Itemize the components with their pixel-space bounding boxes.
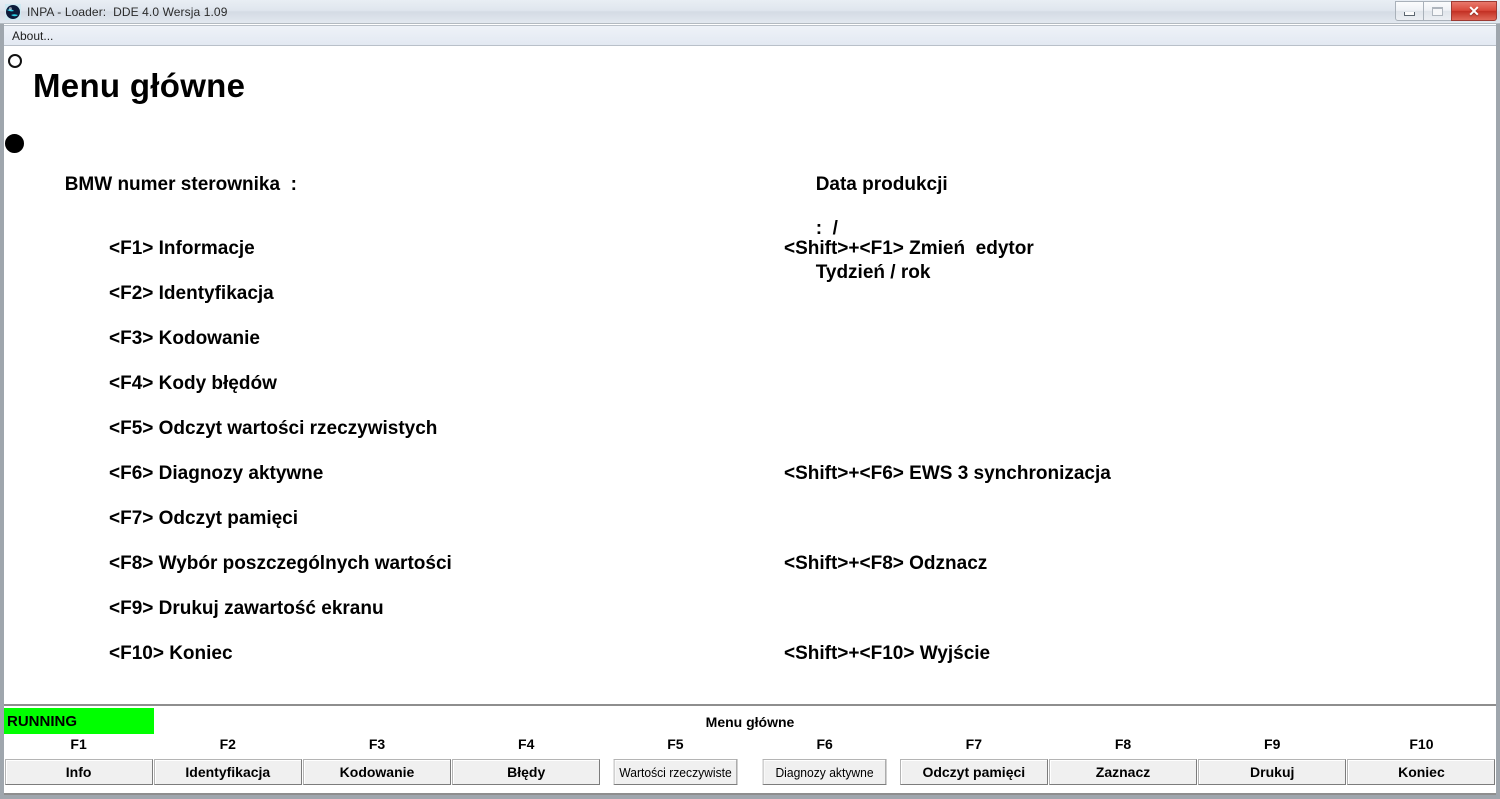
function-key-name: F6: [816, 736, 832, 752]
menu-row: <F4> Kody błędów: [4, 371, 1496, 416]
function-key-cell: F4Błędy: [452, 736, 601, 794]
shift-function-key-entry[interactable]: <Shift>+<F10> Wyjście: [784, 641, 990, 667]
function-key-entry[interactable]: <F10> Koniec: [109, 641, 233, 667]
function-key-entry[interactable]: <F9> Drukuj zawartość ekranu: [109, 596, 384, 622]
function-button-f8[interactable]: Zaznacz: [1049, 759, 1197, 785]
function-key-name: F8: [1115, 736, 1131, 752]
bottom-panel: RUNNING Menu główne F1InfoF2Identyfikacj…: [4, 704, 1496, 795]
function-key-entry[interactable]: <F2> Identyfikacja: [109, 281, 274, 307]
content-area: Menu główne BMW numer sterownika : Data …: [4, 46, 1496, 704]
menu-row: <F9> Drukuj zawartość ekranu: [4, 596, 1496, 641]
function-key-name: F2: [220, 736, 236, 752]
function-key-cell: F1Info: [4, 736, 153, 794]
window-controls: ✕: [1396, 1, 1497, 22]
function-button-f6[interactable]: Diagnozy aktywne: [763, 759, 887, 785]
function-key-name: F10: [1409, 736, 1433, 752]
shift-function-key-entry[interactable]: <Shift>+<F8> Odznacz: [784, 551, 987, 577]
function-key-cell: F6Diagnozy aktywne: [750, 736, 899, 794]
function-button-f7[interactable]: Odczyt pamięci: [900, 759, 1048, 785]
function-key-cell: F8Zaznacz: [1048, 736, 1197, 794]
close-icon: ✕: [1468, 4, 1480, 18]
function-button-f1[interactable]: Info: [5, 759, 153, 785]
menu-row: <F10> Koniec<Shift>+<F10> Wyjście: [4, 641, 1496, 686]
menu-row: <F8> Wybór poszczególnych wartości<Shift…: [4, 551, 1496, 596]
menu-row: <F2> Identyfikacja: [4, 281, 1496, 326]
function-key-entry[interactable]: <F6> Diagnozy aktywne: [109, 461, 323, 487]
maximize-icon: [1432, 7, 1443, 16]
function-key-entry[interactable]: <F3> Kodowanie: [109, 326, 260, 352]
function-key-cell: F10Koniec: [1347, 736, 1496, 794]
function-key-name: F1: [70, 736, 86, 752]
minimize-icon: [1404, 12, 1415, 16]
function-key-cell: F7Odczyt pamięci: [899, 736, 1048, 794]
function-key-button-bar: F1InfoF2IdentyfikacjaF3KodowanieF4BłędyF…: [4, 736, 1496, 794]
globe-icon: [5, 4, 21, 20]
function-key-entry[interactable]: <F4> Kody błędów: [109, 371, 277, 397]
production-date-label: Data produkcji: [816, 174, 948, 195]
function-button-f5[interactable]: Wartości rzeczywiste: [614, 759, 738, 785]
function-key-entry[interactable]: <F8> Wybór poszczególnych wartości: [109, 551, 452, 577]
function-key-cell: F5Wartości rzeczywiste: [601, 736, 750, 794]
function-key-cell: F9Drukuj: [1198, 736, 1347, 794]
controller-number-label: BMW numer sterownika :: [65, 174, 297, 195]
menu-row: <F1> Informacje<Shift>+<F1> Zmień edytor: [4, 236, 1496, 281]
panel-caption: Menu główne: [4, 714, 1496, 730]
function-button-f10[interactable]: Koniec: [1347, 759, 1495, 785]
function-key-menu-list: <F1> Informacje<Shift>+<F1> Zmień edytor…: [4, 236, 1496, 686]
function-key-entry[interactable]: <F7> Odczyt pamięci: [109, 506, 298, 532]
function-key-cell: F2Identyfikacja: [153, 736, 302, 794]
function-key-name: F9: [1264, 736, 1280, 752]
menu-row: <F7> Odczyt pamięci: [4, 506, 1496, 551]
menu-item-about[interactable]: About...: [4, 28, 60, 44]
maximize-button[interactable]: [1423, 1, 1452, 21]
controller-number-line: BMW numer sterownika :: [33, 152, 297, 240]
window-title: INPA - Loader: DDE 4.0 Wersja 1.09: [27, 5, 227, 19]
inpa-loader-window: INPA - Loader: DDE 4.0 Wersja 1.09 ✕ Abo…: [0, 0, 1500, 799]
menu-row: <F3> Kodowanie: [4, 326, 1496, 371]
shift-function-key-entry[interactable]: <Shift>+<F1> Zmień edytor: [784, 236, 1034, 262]
menu-row: <F5> Odczyt wartości rzeczywistych: [4, 416, 1496, 461]
hollow-circle-marker: [8, 54, 22, 68]
menu-bar: About...: [4, 25, 1496, 46]
function-key-entry[interactable]: <F5> Odczyt wartości rzeczywistych: [109, 416, 437, 442]
function-button-f2[interactable]: Identyfikacja: [154, 759, 302, 785]
function-key-name: F3: [369, 736, 385, 752]
close-button[interactable]: ✕: [1451, 1, 1497, 21]
title-bar[interactable]: INPA - Loader: DDE 4.0 Wersja 1.09 ✕: [0, 0, 1500, 24]
filled-circle-marker: [5, 134, 24, 153]
shift-function-key-entry[interactable]: <Shift>+<F6> EWS 3 synchronizacja: [784, 461, 1111, 487]
function-key-entry[interactable]: <F1> Informacje: [109, 236, 255, 262]
function-key-cell: F3Kodowanie: [302, 736, 451, 794]
menu-row: <F6> Diagnozy aktywne<Shift>+<F6> EWS 3 …: [4, 461, 1496, 506]
function-button-f4[interactable]: Błędy: [452, 759, 600, 785]
function-key-name: F4: [518, 736, 534, 752]
page-title: Menu główne: [33, 67, 245, 105]
function-key-name: F7: [966, 736, 982, 752]
function-button-f9[interactable]: Drukuj: [1198, 759, 1346, 785]
minimize-button[interactable]: [1395, 1, 1424, 21]
function-key-name: F5: [667, 736, 683, 752]
function-button-f3[interactable]: Kodowanie: [303, 759, 451, 785]
